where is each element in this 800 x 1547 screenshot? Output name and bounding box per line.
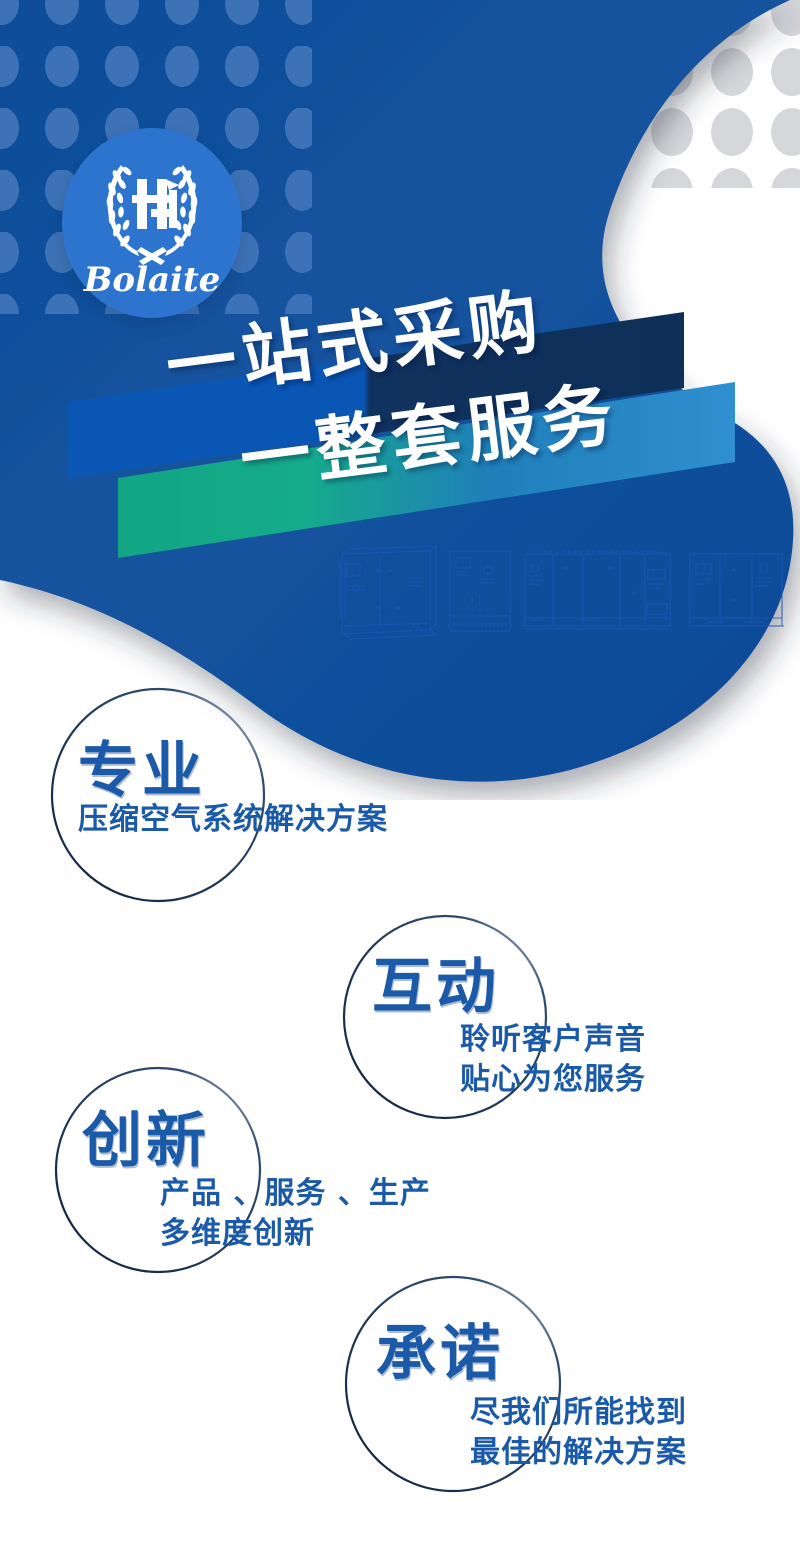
feature-subtitle-line: 最佳的解决方案: [470, 1433, 687, 1473]
feature-title: 承诺: [376, 1305, 504, 1392]
feature-subtitle: 产品 、服务 、生产 多维度创新: [160, 1174, 431, 1254]
feature-subtitle: 尽我们所能找到 最佳的解决方案: [470, 1393, 687, 1473]
machine-silhouettes: [320, 538, 800, 648]
feature-professional[interactable]: 专业 压缩空气系统解决方案: [0, 660, 560, 920]
brand-logo[interactable]: Bolaite: [62, 128, 242, 318]
poster-canvas: 一站式采购 一整套服务: [0, 0, 800, 1547]
feature-title: 专业: [78, 722, 206, 809]
feature-commitment[interactable]: 承诺 尽我们所能找到 最佳的解决方案: [280, 1245, 800, 1535]
feature-subtitle-line: 尽我们所能找到: [470, 1393, 687, 1433]
brand-wordmark: Bolaite: [83, 260, 221, 300]
feature-subtitle: 压缩空气系统解决方案: [78, 800, 388, 840]
feature-title: 互动: [372, 938, 500, 1025]
feature-subtitle-line: 产品 、服务 、生产: [160, 1174, 431, 1214]
feature-title: 创新: [82, 1092, 210, 1179]
laurel-wreath-monogram-icon: [106, 165, 198, 265]
